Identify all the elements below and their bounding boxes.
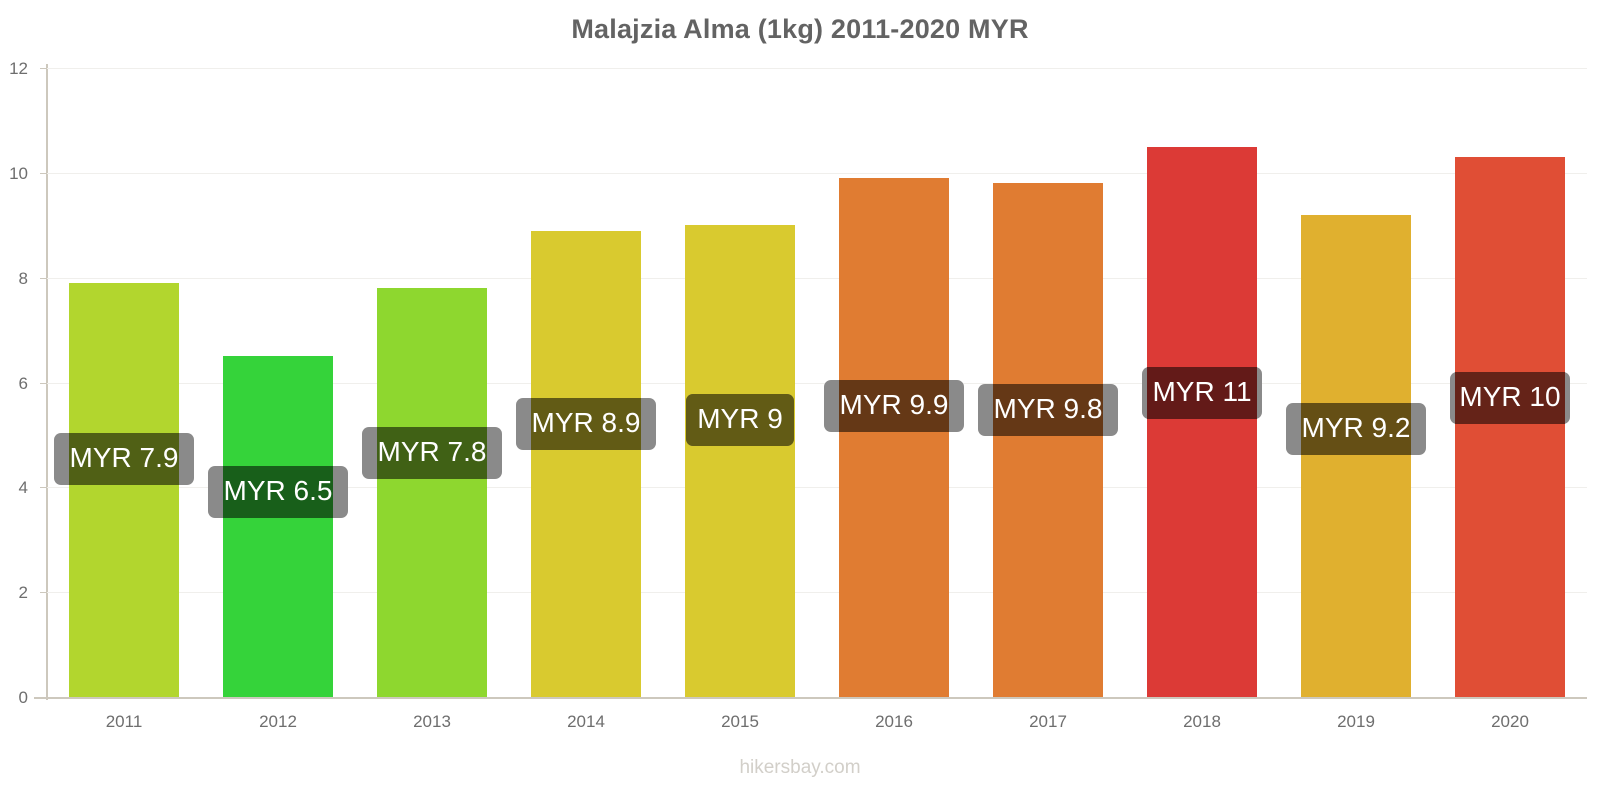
bar-value-label: MYR 9.9: [824, 380, 964, 432]
bar-value-label: MYR 8.9: [516, 398, 656, 450]
bar-value-label-text: MYR 7.9: [70, 444, 179, 474]
bar-value-label-text: MYR 11: [1152, 378, 1251, 408]
x-tick-label: 2018: [1125, 712, 1279, 732]
bar[interactable]: [377, 288, 487, 697]
bar-value-label: MYR 7.9: [54, 433, 194, 485]
bar-value-label: MYR 10: [1450, 372, 1570, 424]
y-tick-label: 6: [0, 374, 28, 394]
bar-value-label: MYR 7.8: [362, 427, 502, 479]
x-tick-label: 2014: [509, 712, 663, 732]
y-tick-mark: [40, 592, 47, 593]
y-tick-label: 2: [0, 583, 28, 603]
bar[interactable]: [993, 183, 1103, 697]
footer-credit: hikersbay.com: [0, 757, 1600, 779]
bar[interactable]: [1455, 157, 1565, 697]
y-tick-label: 8: [0, 269, 28, 289]
bar-value-label-text: MYR 8.9: [532, 409, 641, 439]
gridline: [47, 68, 1587, 69]
x-tick-label: 2012: [201, 712, 355, 732]
bar-value-label-text: MYR 9.9: [840, 391, 949, 421]
y-tick-mark: [40, 487, 47, 488]
bar-value-label-text: MYR 6.5: [224, 477, 333, 507]
bar-value-label-text: MYR 9.2: [1302, 414, 1411, 444]
bar[interactable]: [1301, 215, 1411, 697]
bar[interactable]: [223, 356, 333, 697]
y-tick-mark: [40, 173, 47, 174]
x-axis-line: [34, 697, 1587, 699]
bar[interactable]: [685, 225, 795, 697]
bar[interactable]: [69, 283, 179, 697]
y-tick-label: 10: [0, 164, 28, 184]
plot-area: 024681012 MYR 7.9MYR 6.5MYR 7.8MYR 8.9MY…: [47, 68, 1587, 697]
bar-value-label: MYR 9.2: [1286, 403, 1426, 455]
y-tick-mark: [40, 278, 47, 279]
bar[interactable]: [1147, 147, 1257, 697]
bar-value-label-text: MYR 7.8: [378, 438, 487, 468]
x-tick-label: 2020: [1433, 712, 1587, 732]
bar-value-label: MYR 6.5: [208, 466, 348, 518]
bar-value-label: MYR 11: [1142, 367, 1262, 419]
x-tick-label: 2017: [971, 712, 1125, 732]
bar[interactable]: [531, 231, 641, 698]
bar-value-label: MYR 9: [686, 394, 794, 446]
x-tick-label: 2011: [47, 712, 201, 732]
page-title: Malajzia Alma (1kg) 2011-2020 MYR: [0, 14, 1600, 45]
x-tick-label: 2015: [663, 712, 817, 732]
y-tick-label: 0: [0, 688, 28, 708]
bar[interactable]: [839, 178, 949, 697]
bar-chart: Malajzia Alma (1kg) 2011-2020 MYR 024681…: [0, 0, 1600, 800]
bar-value-label-text: MYR 9.8: [994, 395, 1103, 425]
y-tick-label: 12: [0, 59, 28, 79]
gridline: [47, 173, 1587, 174]
y-tick-mark: [40, 68, 47, 69]
bar-value-label-text: MYR 9: [697, 405, 783, 435]
y-tick-label: 4: [0, 478, 28, 498]
x-tick-label: 2016: [817, 712, 971, 732]
bar-value-label-text: MYR 10: [1459, 383, 1560, 413]
x-tick-label: 2013: [355, 712, 509, 732]
x-tick-label: 2019: [1279, 712, 1433, 732]
bar-value-label: MYR 9.8: [978, 384, 1118, 436]
y-tick-mark: [40, 383, 47, 384]
y-tick-mark: [40, 697, 47, 698]
